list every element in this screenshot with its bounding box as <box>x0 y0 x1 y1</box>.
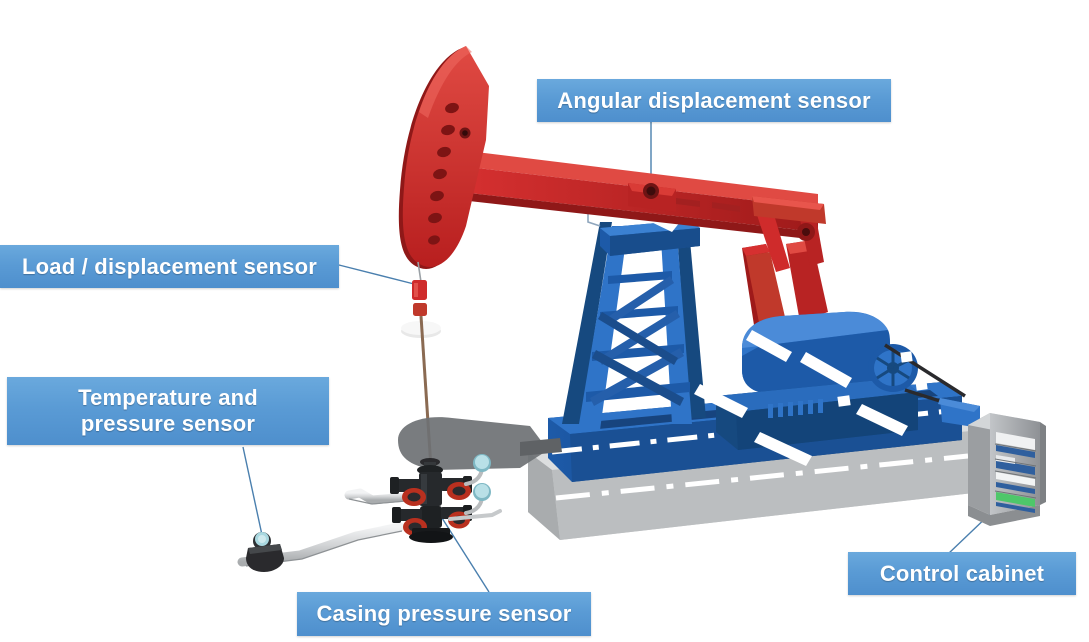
callout-temperature-label-line2: pressure sensor <box>78 411 258 437</box>
callout-cabinet-label: Control cabinet <box>880 561 1044 587</box>
samson-post-tower <box>562 194 706 430</box>
callout-temperature-label-line1: Temperature and <box>78 385 258 411</box>
load-cell-lower <box>413 303 427 316</box>
leader-temperature <box>243 447 262 535</box>
callout-angular-label: Angular displacement sensor <box>557 88 871 114</box>
callout-temperature-pressure-sensor[interactable]: Temperature and pressure sensor <box>7 377 329 445</box>
horse-head <box>399 46 489 269</box>
callout-control-cabinet[interactable]: Control cabinet <box>848 552 1076 595</box>
control-cabinet <box>968 413 1046 526</box>
temperature-pressure-sensor <box>246 532 284 572</box>
handwheel-upper-left <box>402 488 426 506</box>
callout-casing-pressure-sensor[interactable]: Casing pressure sensor <box>297 592 591 636</box>
callout-angular-displacement-sensor[interactable]: Angular displacement sensor <box>537 79 891 122</box>
callout-load-displacement-sensor[interactable]: Load / displacement sensor <box>0 245 339 288</box>
callout-load-label: Load / displacement sensor <box>22 254 317 280</box>
callout-casing-label: Casing pressure sensor <box>316 601 571 627</box>
diagram-canvas: Angular displacement sensor Load / displ… <box>0 0 1089 642</box>
leader-load <box>339 265 418 285</box>
